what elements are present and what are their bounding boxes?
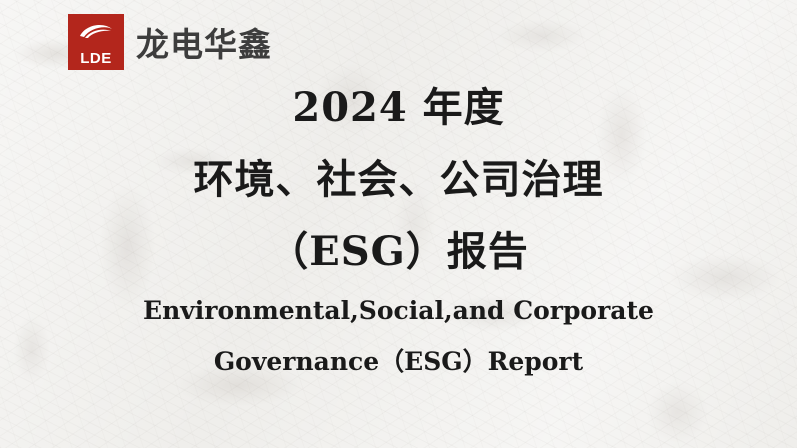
cover-subtitle-line-1: Environmental,Social,and Corporate (0, 298, 797, 323)
logo-mark-text: LDE (68, 51, 124, 66)
cover-title-line-1: 2024 年度 (0, 88, 797, 128)
company-logo: LDE 龙电华鑫 (68, 14, 272, 70)
logo-company-name: 龙电华鑫 (136, 18, 272, 66)
cover-subtitle-line-2: Governance（ESG）Report (0, 349, 797, 374)
cover-page: LDE 龙电华鑫 2024 年度 环境、社会、公司治理 （ESG）报告 Envi… (0, 0, 797, 448)
cover-title-line-3: （ESG）报告 (0, 232, 797, 272)
cover-title-block: 2024 年度 环境、社会、公司治理 （ESG）报告 Environmental… (0, 88, 797, 374)
swoosh-mark-icon (78, 20, 114, 40)
logo-mark: LDE (68, 14, 124, 70)
cover-title-line-2: 环境、社会、公司治理 (0, 160, 797, 200)
